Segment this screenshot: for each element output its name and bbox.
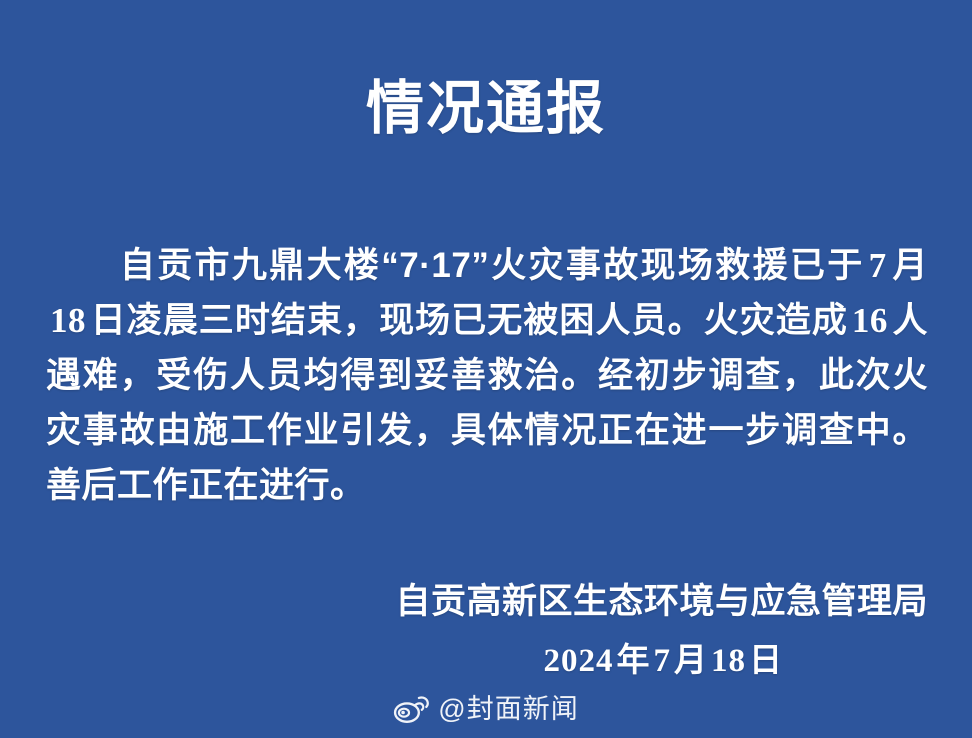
issue-date-month-unit: 月 (674, 641, 708, 678)
issue-date-day: 18 (708, 643, 749, 679)
body-segment-2: 月 (891, 246, 928, 285)
notice-body-text: 自贡市九鼎大楼“7·17”火灾事故现场救援已于7月18日凌晨三时结束，现场已无被… (46, 238, 928, 513)
issue-date-year: 2024 (540, 643, 616, 679)
watermark-handle: @封面新闻 (438, 694, 578, 724)
body-month-number: 7 (865, 246, 891, 285)
notice-card: 情况通报 自贡市九鼎大楼“7·17”火灾事故现场救援已于7月18日凌晨三时结束，… (0, 0, 972, 738)
page-title: 情况通报 (0, 74, 972, 144)
issue-date-month: 7 (650, 643, 674, 679)
signature-block: 自贡高新区生态环境与应急管理局 2024年7月18日 (395, 578, 928, 683)
body-deaths-number: 16 (848, 301, 892, 340)
issue-date: 2024年7月18日 (395, 638, 928, 683)
issuing-organization: 自贡高新区生态环境与应急管理局 (395, 578, 928, 626)
issue-date-day-unit: 日 (749, 641, 783, 678)
body-day-number: 18 (46, 301, 90, 340)
body-segment-1: 自贡市九鼎大楼“7·17”火灾事故现场救援已于 (118, 246, 865, 285)
issue-date-year-unit: 年 (616, 641, 650, 678)
weibo-logo-icon (393, 694, 429, 724)
body-segment-3: 日凌晨三时结束，现场已无被困人员。火灾造成 (90, 301, 848, 340)
watermark: @封面新闻 (0, 694, 972, 724)
